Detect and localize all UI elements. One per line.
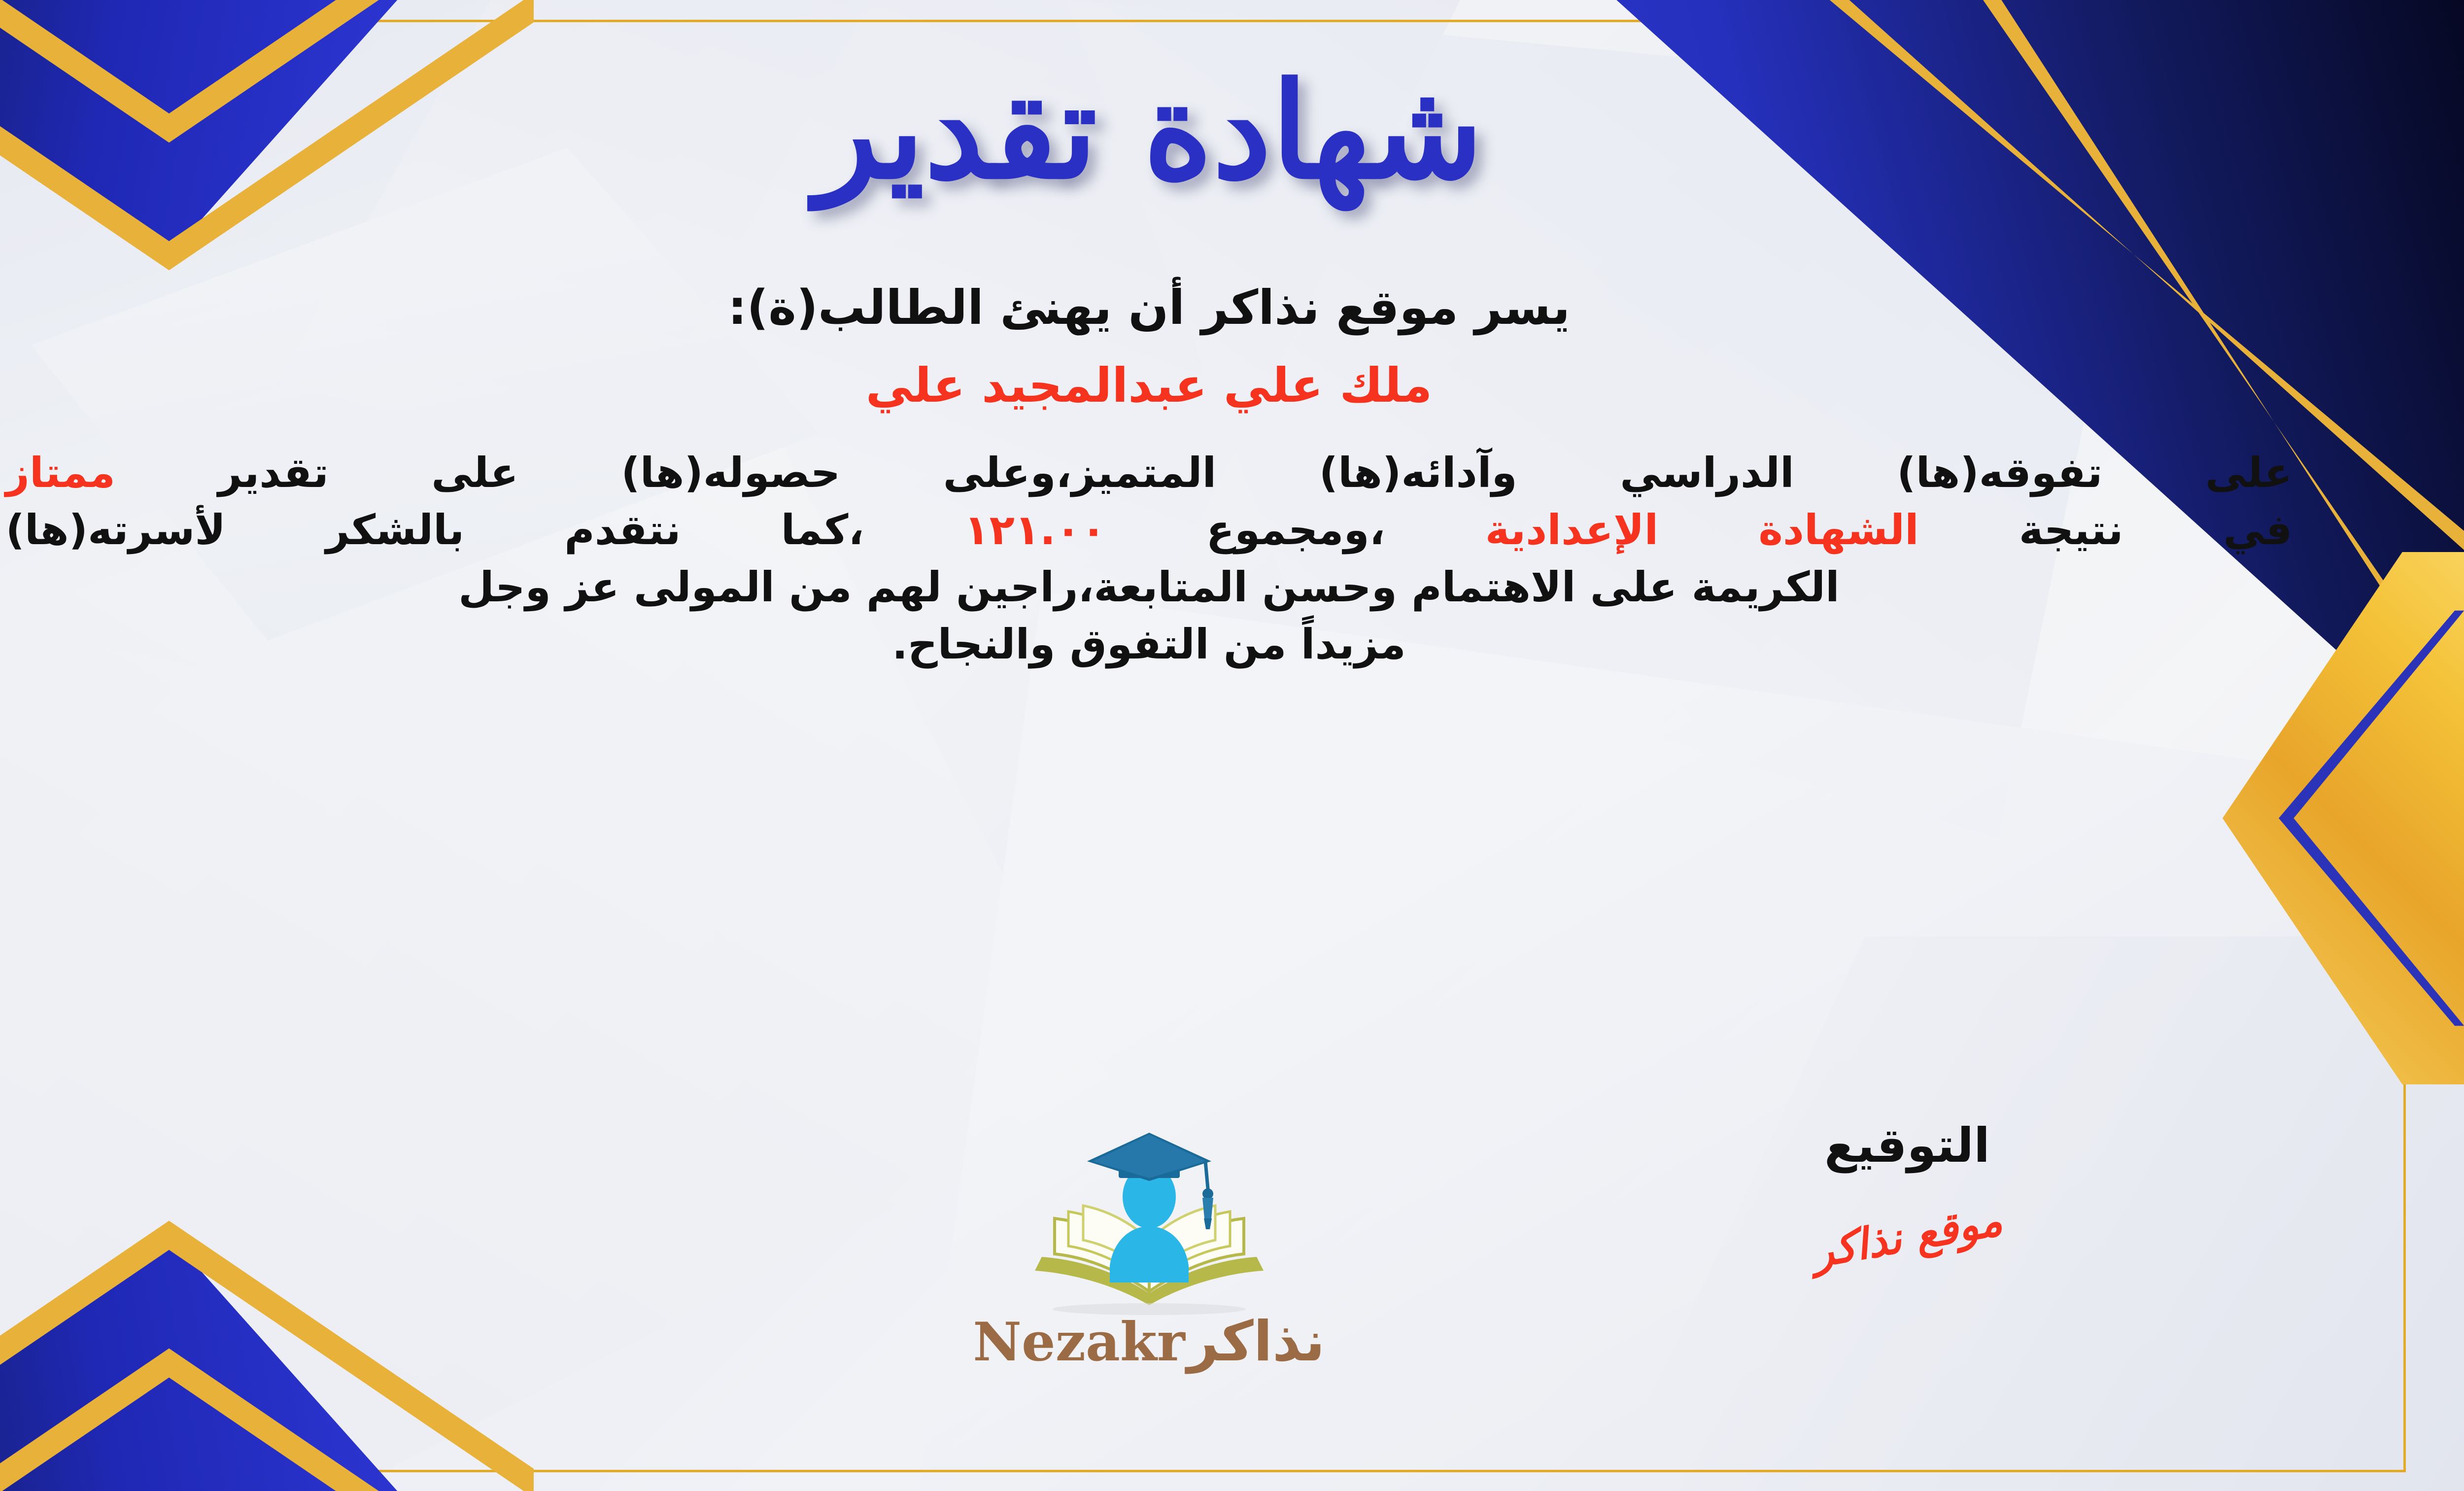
certificate-footer: التوقيع موقع نذاكر <box>0 1118 2464 1433</box>
body-line-2-suffix: ،كما نتقدم بالشكر لأسرته(ها) <box>6 506 864 554</box>
body-line-2-prefix: في نتيجة <box>2019 506 2293 554</box>
body-line-4: مزيداً من التفوق والنجاح. <box>6 616 2293 673</box>
certificate-document: شهادة تقدير يسر موقع نذاكر أن يهنئ الطال… <box>0 0 2464 1491</box>
certificate-stage-value: الشهادة الإعدادية <box>1485 506 1919 554</box>
grade-value: ممتاز <box>6 449 116 497</box>
graduate-book-icon <box>996 1120 1302 1317</box>
certificate-title: شهادة تقدير <box>815 65 1483 197</box>
site-logo: نذاكر Nezakr <box>937 1120 1361 1369</box>
body-line-2-middle: ،ومجموع <box>1206 506 1385 554</box>
body-line-2: في نتيجة الشهادة الإعدادية ،ومجموع ١٢١.٠… <box>6 502 2293 559</box>
intro-line: يسر موقع نذاكر أن يهنئ الطالب(ة): <box>728 280 1570 335</box>
logo-latin-text: Nezakr <box>973 1316 1185 1369</box>
signature-label: التوقيع <box>1725 1118 2089 1173</box>
body-line-1-text: على تفوقه(ها) الدراسي وآدائه(ها) المتميز… <box>218 449 2292 497</box>
certificate-body: على تفوقه(ها) الدراسي وآدائه(ها) المتميز… <box>6 445 2293 673</box>
signature-handwriting: موقع نذاكر <box>1723 1180 2091 1293</box>
total-score-value: ١٢١.٠٠ <box>964 506 1106 554</box>
logo-arabic-text: نذاكر <box>1187 1314 1325 1369</box>
body-line-1: على تفوقه(ها) الدراسي وآدائه(ها) المتميز… <box>6 445 2293 502</box>
student-name: ملك علي عبدالمجيد علي <box>866 358 1432 413</box>
logo-wordmark: نذاكر Nezakr <box>937 1314 1361 1369</box>
body-line-3: الكريمة على الاهتمام وحسن المتابعة،راجين… <box>6 559 2293 616</box>
signature-block: التوقيع موقع نذاكر <box>1725 1118 2089 1261</box>
